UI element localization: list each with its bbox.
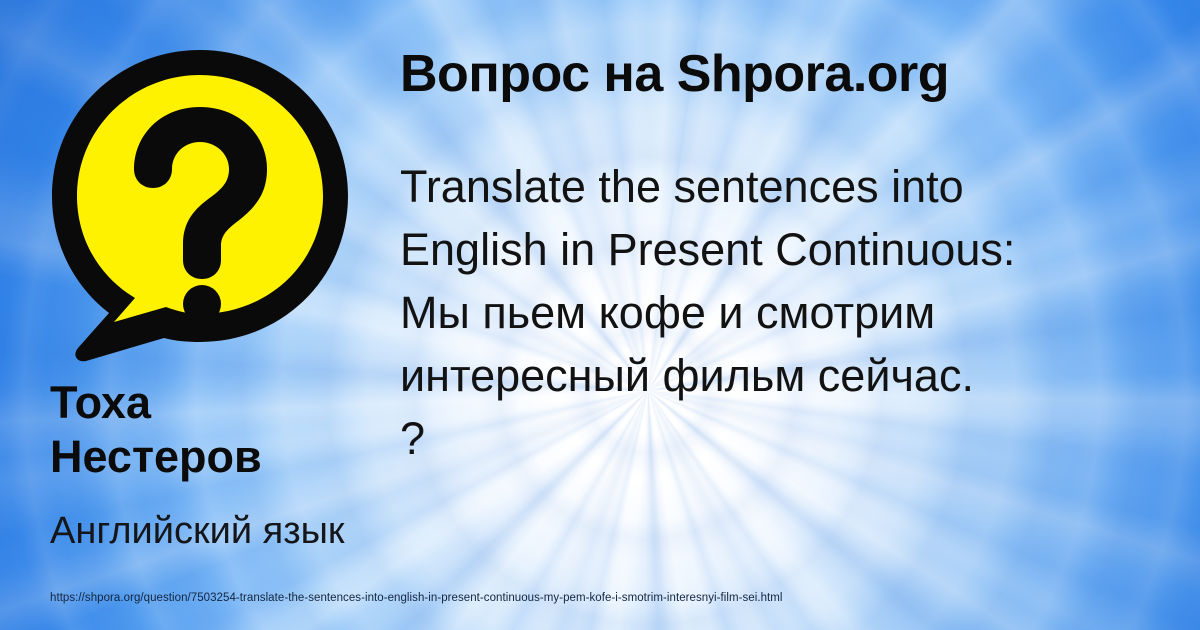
subject-label: Английский язык — [50, 508, 470, 554]
question-speech-bubble-icon — [48, 48, 358, 363]
author-first-name: Тоха — [50, 377, 151, 428]
page-title: Вопрос на Shpora.org — [400, 46, 1180, 102]
question-text: Translate the sentences into English in … — [400, 155, 1160, 470]
source-url: https://shpora.org/question/7503254-tran… — [50, 591, 783, 605]
author-last-name: Нестеров — [50, 431, 262, 482]
question-share-card: Вопрос на Shpora.org Translate the sente… — [0, 0, 1200, 630]
author-name: Тоха Нестеров — [50, 376, 400, 484]
question-line: English in Present Continuous: — [400, 218, 1160, 281]
question-line: Мы пьем кофе и смотрим — [400, 281, 1160, 344]
question-line: интересный фильм сейчас. — [400, 344, 1160, 407]
question-line: Translate the sentences into — [400, 155, 1160, 218]
question-line: ? — [400, 407, 1160, 470]
